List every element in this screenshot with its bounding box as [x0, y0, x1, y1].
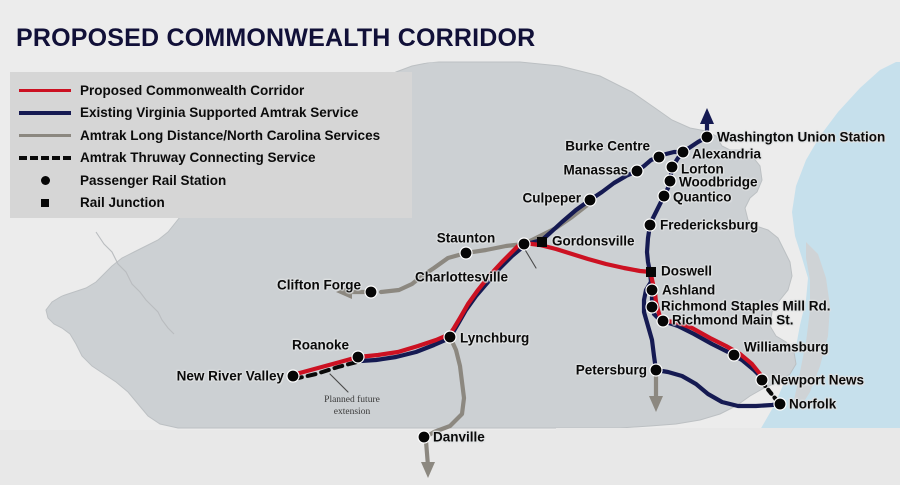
passenger-station-marker[interactable]	[444, 331, 456, 343]
passenger-station-marker[interactable]	[728, 349, 740, 361]
passenger-station-marker[interactable]	[756, 374, 768, 386]
station-label-norfolk[interactable]: Norfolk	[789, 397, 836, 412]
legend-symbol	[10, 176, 80, 185]
station-label-clifton-forge[interactable]: Clifton Forge	[277, 278, 361, 293]
passenger-station-marker[interactable]	[650, 364, 662, 376]
station-label-williamsburg[interactable]: Williamsburg	[744, 340, 829, 355]
legend-item-label: Amtrak Thruway Connecting Service	[80, 150, 316, 165]
legend-symbol	[10, 199, 80, 207]
legend-swatch-thruway	[19, 156, 71, 160]
legend-item-1[interactable]: Existing Virginia Supported Amtrak Servi…	[10, 102, 358, 124]
legend-swatch-rail-junction	[41, 199, 49, 207]
legend-item-label: Existing Virginia Supported Amtrak Servi…	[80, 105, 358, 120]
map-legend: Proposed Commonwealth CorridorExisting V…	[10, 72, 412, 218]
legend-swatch-proposed-corridor	[19, 89, 71, 92]
legend-item-5[interactable]: Rail Junction	[10, 192, 165, 214]
map-annotation-planned-future-extension: Planned future extension	[324, 394, 380, 418]
station-label-richmond-staples-mill-rd[interactable]: Richmond Staples Mill Rd.	[661, 299, 831, 314]
station-label-new-river-valley[interactable]: New River Valley	[177, 369, 284, 384]
page-title: PROPOSED COMMONWEALTH CORRIDOR	[16, 24, 535, 53]
legend-item-4[interactable]: Passenger Rail Station	[10, 169, 226, 191]
passenger-station-marker[interactable]	[701, 131, 713, 143]
passenger-station-marker[interactable]	[653, 151, 665, 163]
station-label-charlottesville[interactable]: Charlottesville	[415, 270, 508, 285]
legend-item-0[interactable]: Proposed Commonwealth Corridor	[10, 79, 304, 101]
passenger-station-marker[interactable]	[287, 370, 299, 382]
station-label-manassas[interactable]: Manassas	[563, 163, 628, 178]
passenger-station-marker[interactable]	[365, 286, 377, 298]
station-label-washington-union-station[interactable]: Washington Union Station	[717, 130, 885, 145]
rail-junction-marker[interactable]	[646, 267, 656, 277]
legend-item-2[interactable]: Amtrak Long Distance/North Carolina Serv…	[10, 124, 380, 146]
passenger-station-marker[interactable]	[646, 301, 658, 313]
station-label-quantico[interactable]: Quantico	[673, 190, 732, 205]
passenger-station-marker[interactable]	[584, 194, 596, 206]
station-label-gordonsville[interactable]: Gordonsville	[552, 234, 635, 249]
legend-item-label: Passenger Rail Station	[80, 173, 226, 188]
station-label-alexandria[interactable]: Alexandria	[692, 147, 761, 162]
station-label-culpeper[interactable]: Culpeper	[522, 191, 581, 206]
passenger-station-marker[interactable]	[657, 315, 669, 327]
station-label-burke-centre[interactable]: Burke Centre	[565, 139, 650, 154]
passenger-station-marker[interactable]	[418, 431, 430, 443]
legend-item-label: Proposed Commonwealth Corridor	[80, 83, 304, 98]
station-label-fredericksburg[interactable]: Fredericksburg	[660, 218, 758, 233]
passenger-station-marker[interactable]	[631, 165, 643, 177]
legend-item-label: Rail Junction	[80, 195, 165, 210]
nc-border-jog	[556, 428, 900, 440]
legend-swatch-passenger-station	[41, 176, 50, 185]
station-label-staunton[interactable]: Staunton	[437, 231, 496, 246]
station-label-ashland[interactable]: Ashland	[662, 283, 715, 298]
rail-junction-marker[interactable]	[537, 237, 547, 247]
passenger-station-marker[interactable]	[658, 190, 670, 202]
passenger-station-marker[interactable]	[774, 398, 786, 410]
passenger-station-marker[interactable]	[677, 146, 689, 158]
passenger-station-marker[interactable]	[644, 219, 656, 231]
passenger-station-marker[interactable]	[518, 238, 530, 250]
passenger-station-marker[interactable]	[646, 284, 658, 296]
station-label-danville[interactable]: Danville	[433, 430, 485, 445]
station-label-petersburg[interactable]: Petersburg	[576, 363, 647, 378]
station-label-roanoke[interactable]: Roanoke	[292, 338, 349, 353]
legend-swatch-long-distance	[19, 134, 71, 137]
legend-swatch-existing-amtrak	[19, 111, 71, 115]
legend-symbol	[10, 156, 80, 160]
rail-corridor-map: PROPOSED COMMONWEALTH CORRIDOR Proposed …	[0, 0, 900, 485]
station-label-doswell[interactable]: Doswell	[661, 264, 712, 279]
passenger-station-marker[interactable]	[352, 351, 364, 363]
legend-item-label: Amtrak Long Distance/North Carolina Serv…	[80, 128, 380, 143]
station-label-woodbridge[interactable]: Woodbridge	[679, 175, 758, 190]
passenger-station-marker[interactable]	[666, 161, 678, 173]
station-label-lynchburg[interactable]: Lynchburg	[460, 331, 529, 346]
station-label-newport-news[interactable]: Newport News	[771, 373, 864, 388]
station-label-richmond-main-st[interactable]: Richmond Main St.	[672, 313, 794, 328]
passenger-station-marker[interactable]	[664, 175, 676, 187]
legend-symbol	[10, 111, 80, 115]
legend-symbol	[10, 89, 80, 92]
passenger-station-marker[interactable]	[460, 247, 472, 259]
legend-symbol	[10, 134, 80, 137]
legend-item-3[interactable]: Amtrak Thruway Connecting Service	[10, 147, 316, 169]
